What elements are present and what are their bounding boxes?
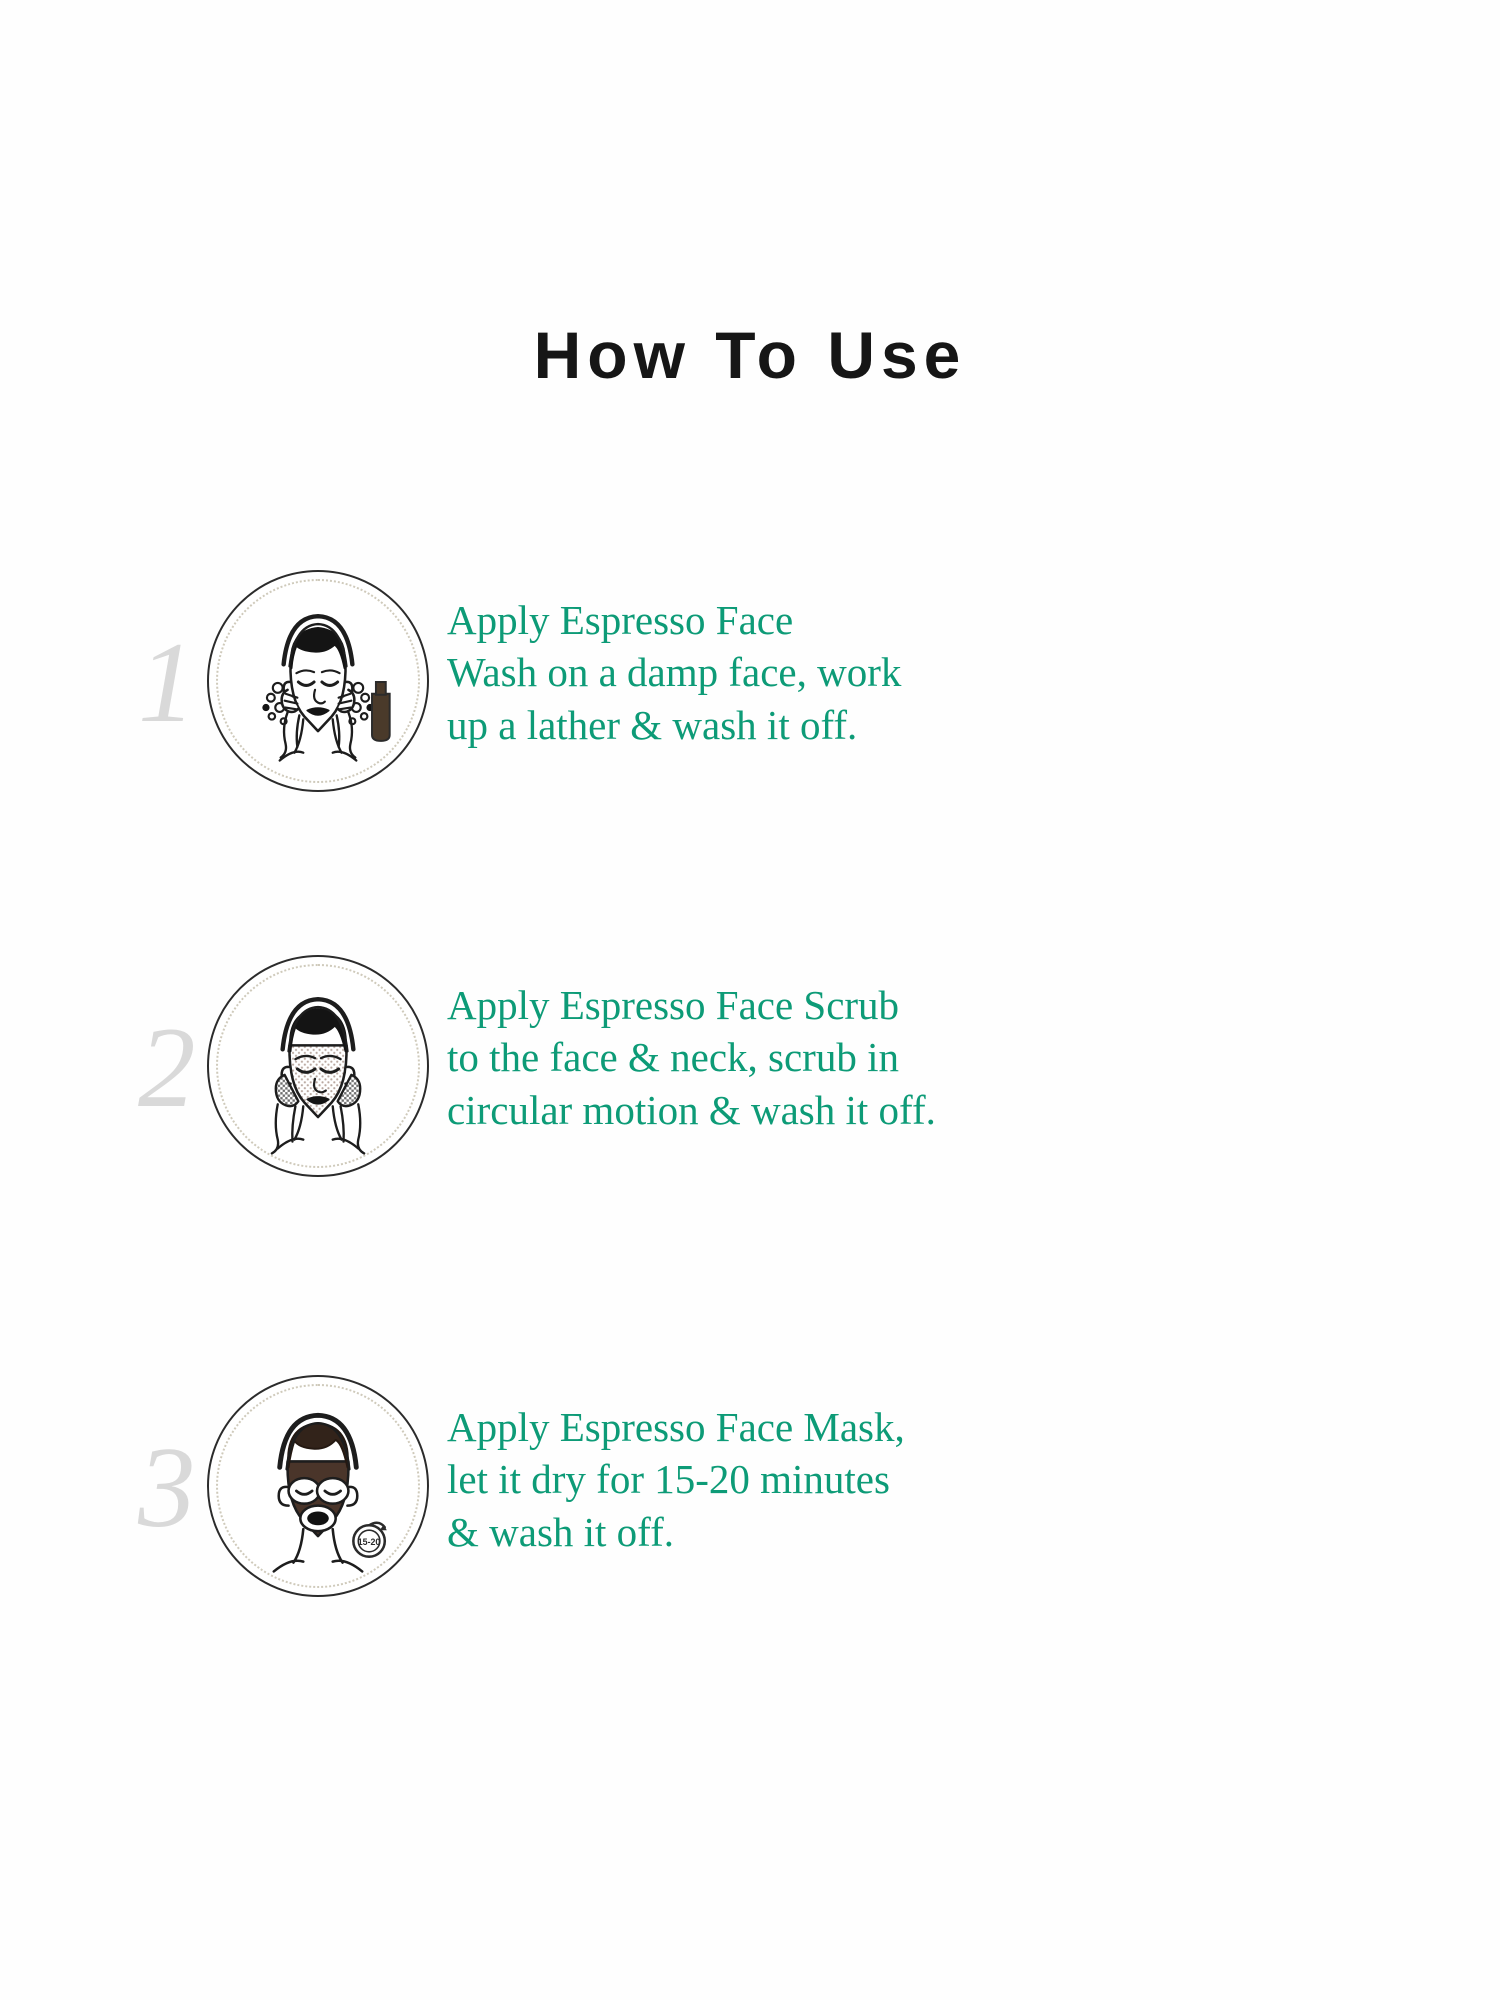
face-scrub-icon bbox=[209, 957, 427, 1175]
step-item: 3 bbox=[0, 1375, 1500, 1635]
step-number-3: 3 bbox=[138, 1430, 196, 1545]
step-number-1: 1 bbox=[138, 625, 196, 740]
step-figure: 2 bbox=[183, 955, 433, 1205]
step-figure: 1 bbox=[183, 570, 433, 820]
step-description: Apply Espresso Face Mask, let it dry for… bbox=[447, 1401, 1087, 1558]
step-description: Apply Espresso Face Scrub to the face & … bbox=[447, 979, 1087, 1136]
step-item: 1 bbox=[0, 570, 1500, 830]
timer-badge-icon: 15-20 bbox=[353, 1523, 386, 1557]
step-illustration-circle bbox=[207, 570, 429, 792]
step-figure: 3 bbox=[183, 1375, 433, 1625]
page-title: How To Use bbox=[0, 322, 1500, 388]
how-to-use-page: How To Use 1 bbox=[0, 0, 1500, 2000]
step-description: Apply Espresso Face Wash on a damp face,… bbox=[447, 594, 1087, 751]
face-mask-icon: 15-20 bbox=[209, 1377, 427, 1595]
face-wash-icon bbox=[209, 572, 427, 790]
face-wash-tube-icon bbox=[372, 682, 390, 741]
step-illustration-circle: 15-20 bbox=[207, 1375, 429, 1597]
timer-badge-label: 15-20 bbox=[358, 1537, 381, 1547]
step-item: 2 bbox=[0, 955, 1500, 1215]
step-number-2: 2 bbox=[138, 1010, 196, 1125]
step-illustration-circle bbox=[207, 955, 429, 1177]
